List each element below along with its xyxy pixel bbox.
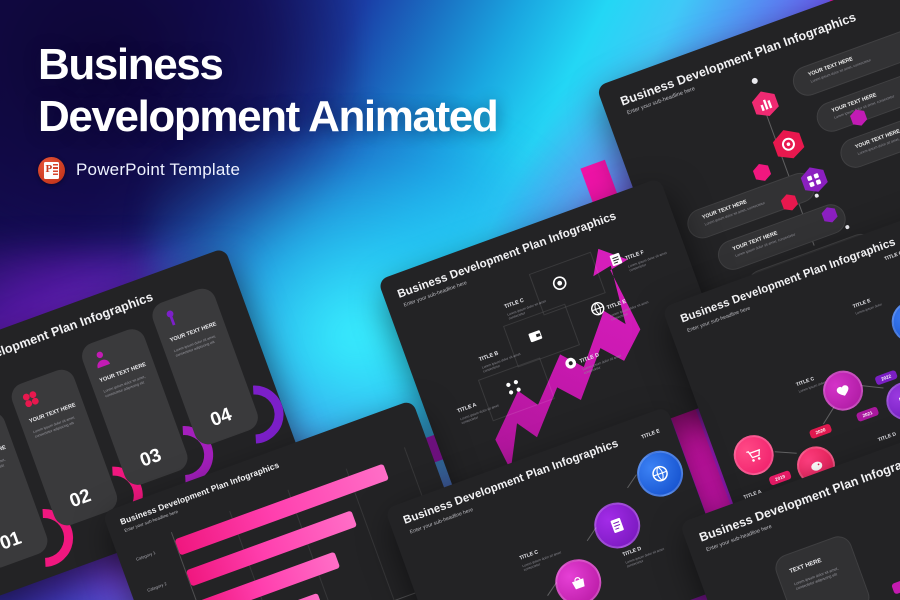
list-item-label: TITLE E [641, 428, 661, 440]
powerpoint-logo-icon: P [38, 157, 65, 184]
poster-canvas: Business Development Plan Infographics E… [0, 0, 900, 600]
chart-category-label: Category 1 [135, 550, 156, 562]
badge-connector [823, 407, 834, 424]
cart-icon [743, 445, 764, 466]
year-badge[interactable] [817, 365, 868, 416]
step-connector [627, 474, 637, 488]
gear-icon [769, 124, 810, 169]
text-box-label: TEXT HERE [789, 558, 823, 575]
poster-headline: Business Development Animated P PowerPoi… [38, 42, 497, 184]
globe-icon [649, 462, 672, 485]
headline-line-1: Business [38, 42, 497, 88]
timeline-node [845, 225, 850, 230]
badge-connector [862, 385, 884, 388]
year-badge[interactable] [881, 377, 900, 426]
year-label: 2022 [874, 370, 898, 386]
list-item-body: Lorem ipsum dolor sit amet, consectetur [810, 42, 900, 84]
document-icon [606, 514, 629, 537]
heart-icon [833, 380, 854, 401]
basket-icon [567, 571, 590, 594]
step-card-body: Lorem ipsum dolor sit amet, consectetur … [0, 456, 11, 481]
timeline-node [751, 77, 759, 85]
list-item-label: TITLE D [877, 431, 897, 443]
badge-connector [775, 451, 797, 454]
powerpoint-logo-letter: P [46, 163, 53, 175]
headline-line-2: Development Animated [38, 94, 497, 140]
year-label: 2021 [856, 406, 880, 422]
product-row: P PowerPoint Template [38, 157, 497, 184]
text-box-card[interactable]: TEXT HERE Lorem ipsum dolor sit amet, co… [771, 532, 873, 600]
chart-icon [748, 86, 784, 126]
clover-icon [19, 388, 42, 411]
year-label: 2020 [809, 423, 833, 439]
product-label: PowerPoint Template [76, 160, 240, 180]
chart-category-label: Category 2 [146, 581, 167, 593]
year-label: 2024 [891, 575, 900, 595]
step-badge[interactable] [631, 444, 690, 503]
person-icon [90, 347, 113, 370]
list-item-label: TITLE G [884, 250, 900, 262]
key-icon [160, 307, 183, 330]
grid-icon [896, 391, 900, 410]
year-badge[interactable] [728, 429, 779, 480]
